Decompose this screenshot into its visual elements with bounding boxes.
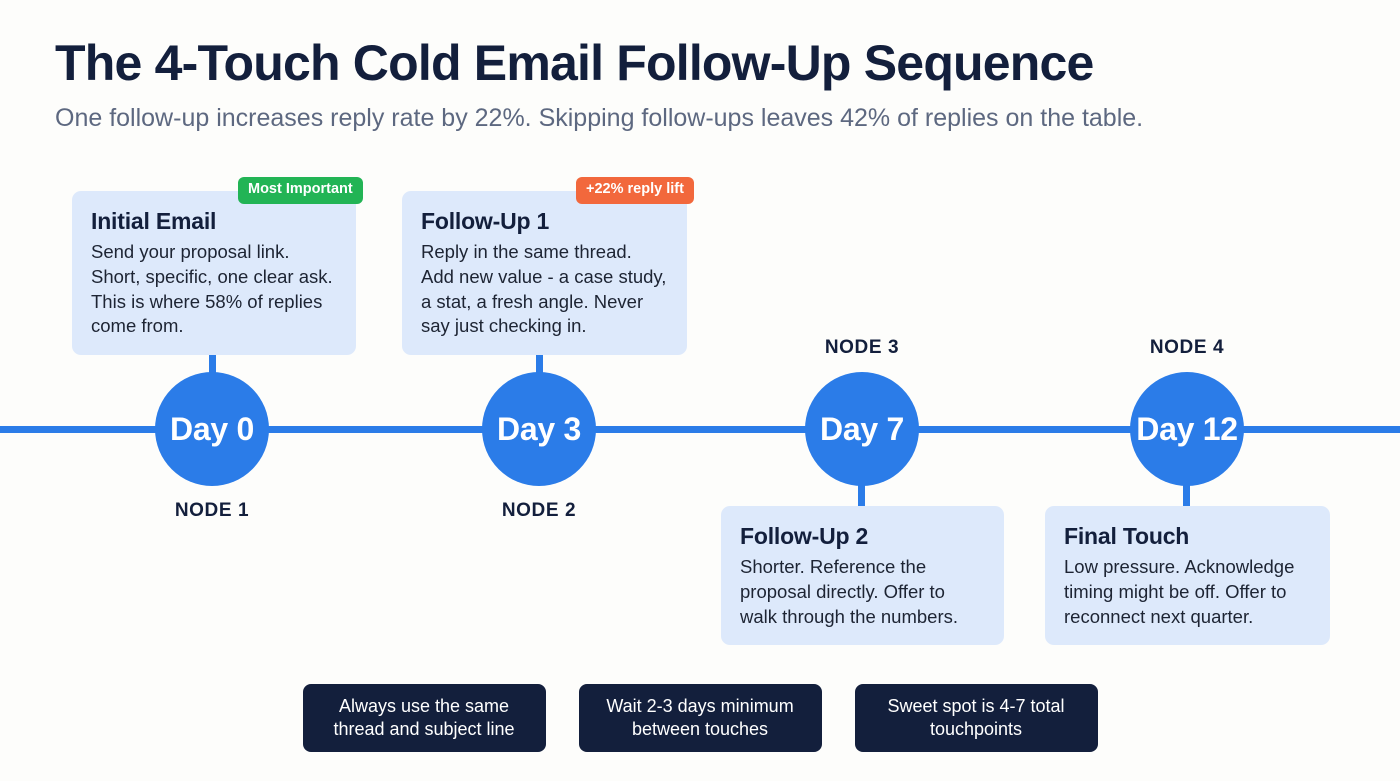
card-title: Initial Email (91, 208, 337, 234)
footer-chip-line-2: thread and subject line (333, 718, 514, 741)
timeline-node-2[interactable]: Day 3 (482, 372, 596, 486)
footer-chip: Always use the same thread and subject l… (303, 684, 546, 752)
node-caption-2: NODE 2 (439, 500, 639, 522)
footer-chip-list: Always use the same thread and subject l… (0, 684, 1400, 752)
timeline-node-4[interactable]: Day 12 (1130, 372, 1244, 486)
footer-chip: Sweet spot is 4-7 total touchpoints (855, 684, 1098, 752)
node-caption-1: NODE 1 (112, 500, 312, 522)
footer-chip-line-1: Sweet spot is 4-7 total (887, 695, 1064, 718)
card-body: Shorter. Reference the proposal directly… (740, 555, 985, 629)
node-caption-3: NODE 3 (762, 337, 962, 359)
timeline-node-3[interactable]: Day 7 (805, 372, 919, 486)
card-title: Follow-Up 2 (740, 523, 985, 549)
footer-chip-line-1: Wait 2-3 days minimum (606, 695, 793, 718)
footer-chip: Wait 2-3 days minimum between touches (579, 684, 822, 752)
timeline-node-1[interactable]: Day 0 (155, 372, 269, 486)
timeline-card-node-3: Follow-Up 2 Shorter. Reference the propo… (721, 506, 1004, 645)
card-body: Reply in the same thread. Add new value … (421, 240, 668, 338)
card-title: Follow-Up 1 (421, 208, 668, 234)
footer-chip-line-2: between touches (606, 718, 793, 741)
card-body: Send your proposal link. Short, specific… (91, 240, 337, 338)
card-body: Low pressure. Acknowledge timing might b… (1064, 555, 1311, 629)
header: The 4-Touch Cold Email Follow-Up Sequenc… (55, 36, 1355, 133)
timeline-card-node-1: Initial Email Send your proposal link. S… (72, 191, 356, 355)
node-caption-4: NODE 4 (1087, 337, 1287, 359)
timeline-card-node-2: Follow-Up 1 Reply in the same thread. Ad… (402, 191, 687, 355)
footer-chip-line-1: Always use the same (333, 695, 514, 718)
card-title: Final Touch (1064, 523, 1311, 549)
badge-reply-lift: +22% reply lift (576, 177, 694, 204)
page-title: The 4-Touch Cold Email Follow-Up Sequenc… (55, 36, 1355, 90)
footer-chip-line-2: touchpoints (887, 718, 1064, 741)
timeline-card-node-4: Final Touch Low pressure. Acknowledge ti… (1045, 506, 1330, 645)
page-subtitle: One follow-up increases reply rate by 22… (55, 103, 1355, 133)
badge-most-important: Most Important (238, 177, 363, 204)
